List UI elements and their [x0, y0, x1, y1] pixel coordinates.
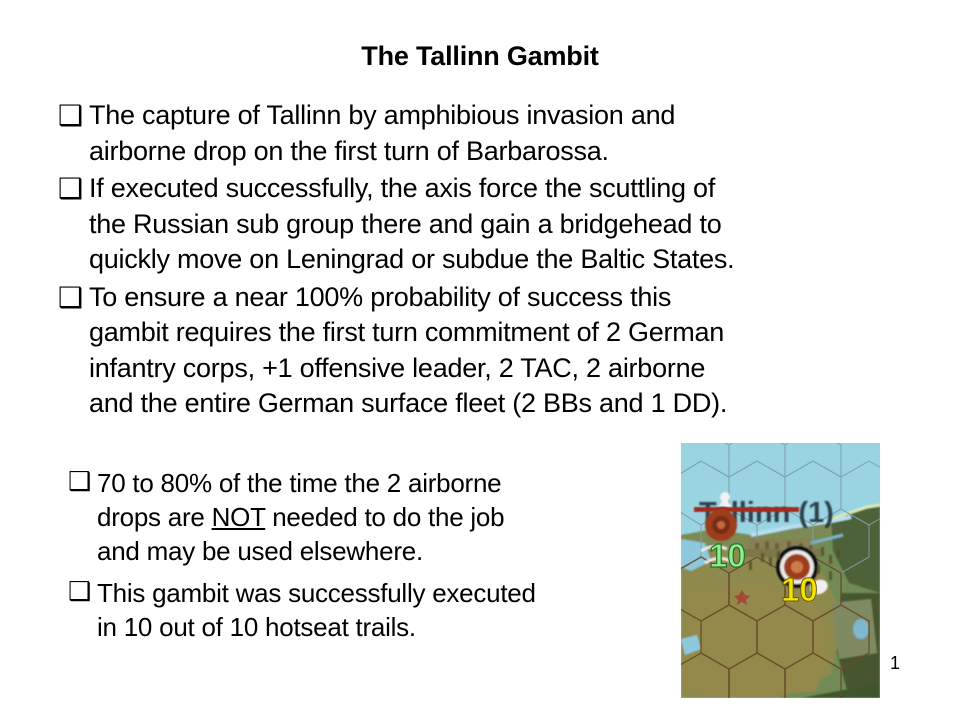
page-title: The Tallinn Gambit [0, 40, 960, 72]
bullet-square-icon: ❑ [58, 98, 89, 133]
slide-canvas: The Tallinn Gambit ❑ The capture of Tall… [0, 0, 960, 720]
bullet-list-lower: ❑ 70 to 80% of the time the 2 airborne d… [68, 466, 668, 652]
bullet-list-upper: ❑ The capture of Tallinn by amphibious i… [58, 98, 918, 424]
list-item: ❑ 70 to 80% of the time the 2 airborne d… [68, 466, 668, 568]
list-item: ❑ If executed successfully, the axis for… [58, 171, 918, 278]
bullet-square-icon: ❑ [58, 171, 89, 206]
list-item: ❑ This gambit was successfully executed … [68, 576, 668, 644]
list-item-text: To ensure a near 100% probability of suc… [89, 280, 918, 422]
list-item-text: This gambit was successfully executed in… [97, 576, 668, 644]
bullet-square-icon: ❑ [58, 280, 89, 315]
bullet-square-icon: ❑ [68, 576, 97, 609]
game-map-screenshot: Tallinn (1) 10 10 [681, 443, 880, 698]
list-item: ❑ To ensure a near 100% probability of s… [58, 280, 918, 422]
list-item-text: The capture of Tallinn by amphibious inv… [89, 98, 918, 169]
list-item: ❑ The capture of Tallinn by amphibious i… [58, 98, 918, 169]
page-number: 1 [890, 652, 900, 674]
bullet-square-icon: ❑ [68, 466, 97, 499]
emphasis-not: NOT [212, 502, 266, 532]
map-strength-green: 10 [709, 537, 746, 574]
list-item-text-pre: This gambit was successfully executed in… [97, 578, 536, 642]
map-strength-yellow: 10 [781, 571, 818, 608]
map-illustration: Tallinn (1) 10 10 [681, 443, 880, 698]
list-item-text: 70 to 80% of the time the 2 airborne dro… [97, 466, 668, 568]
list-item-text: If executed successfully, the axis force… [89, 171, 918, 278]
